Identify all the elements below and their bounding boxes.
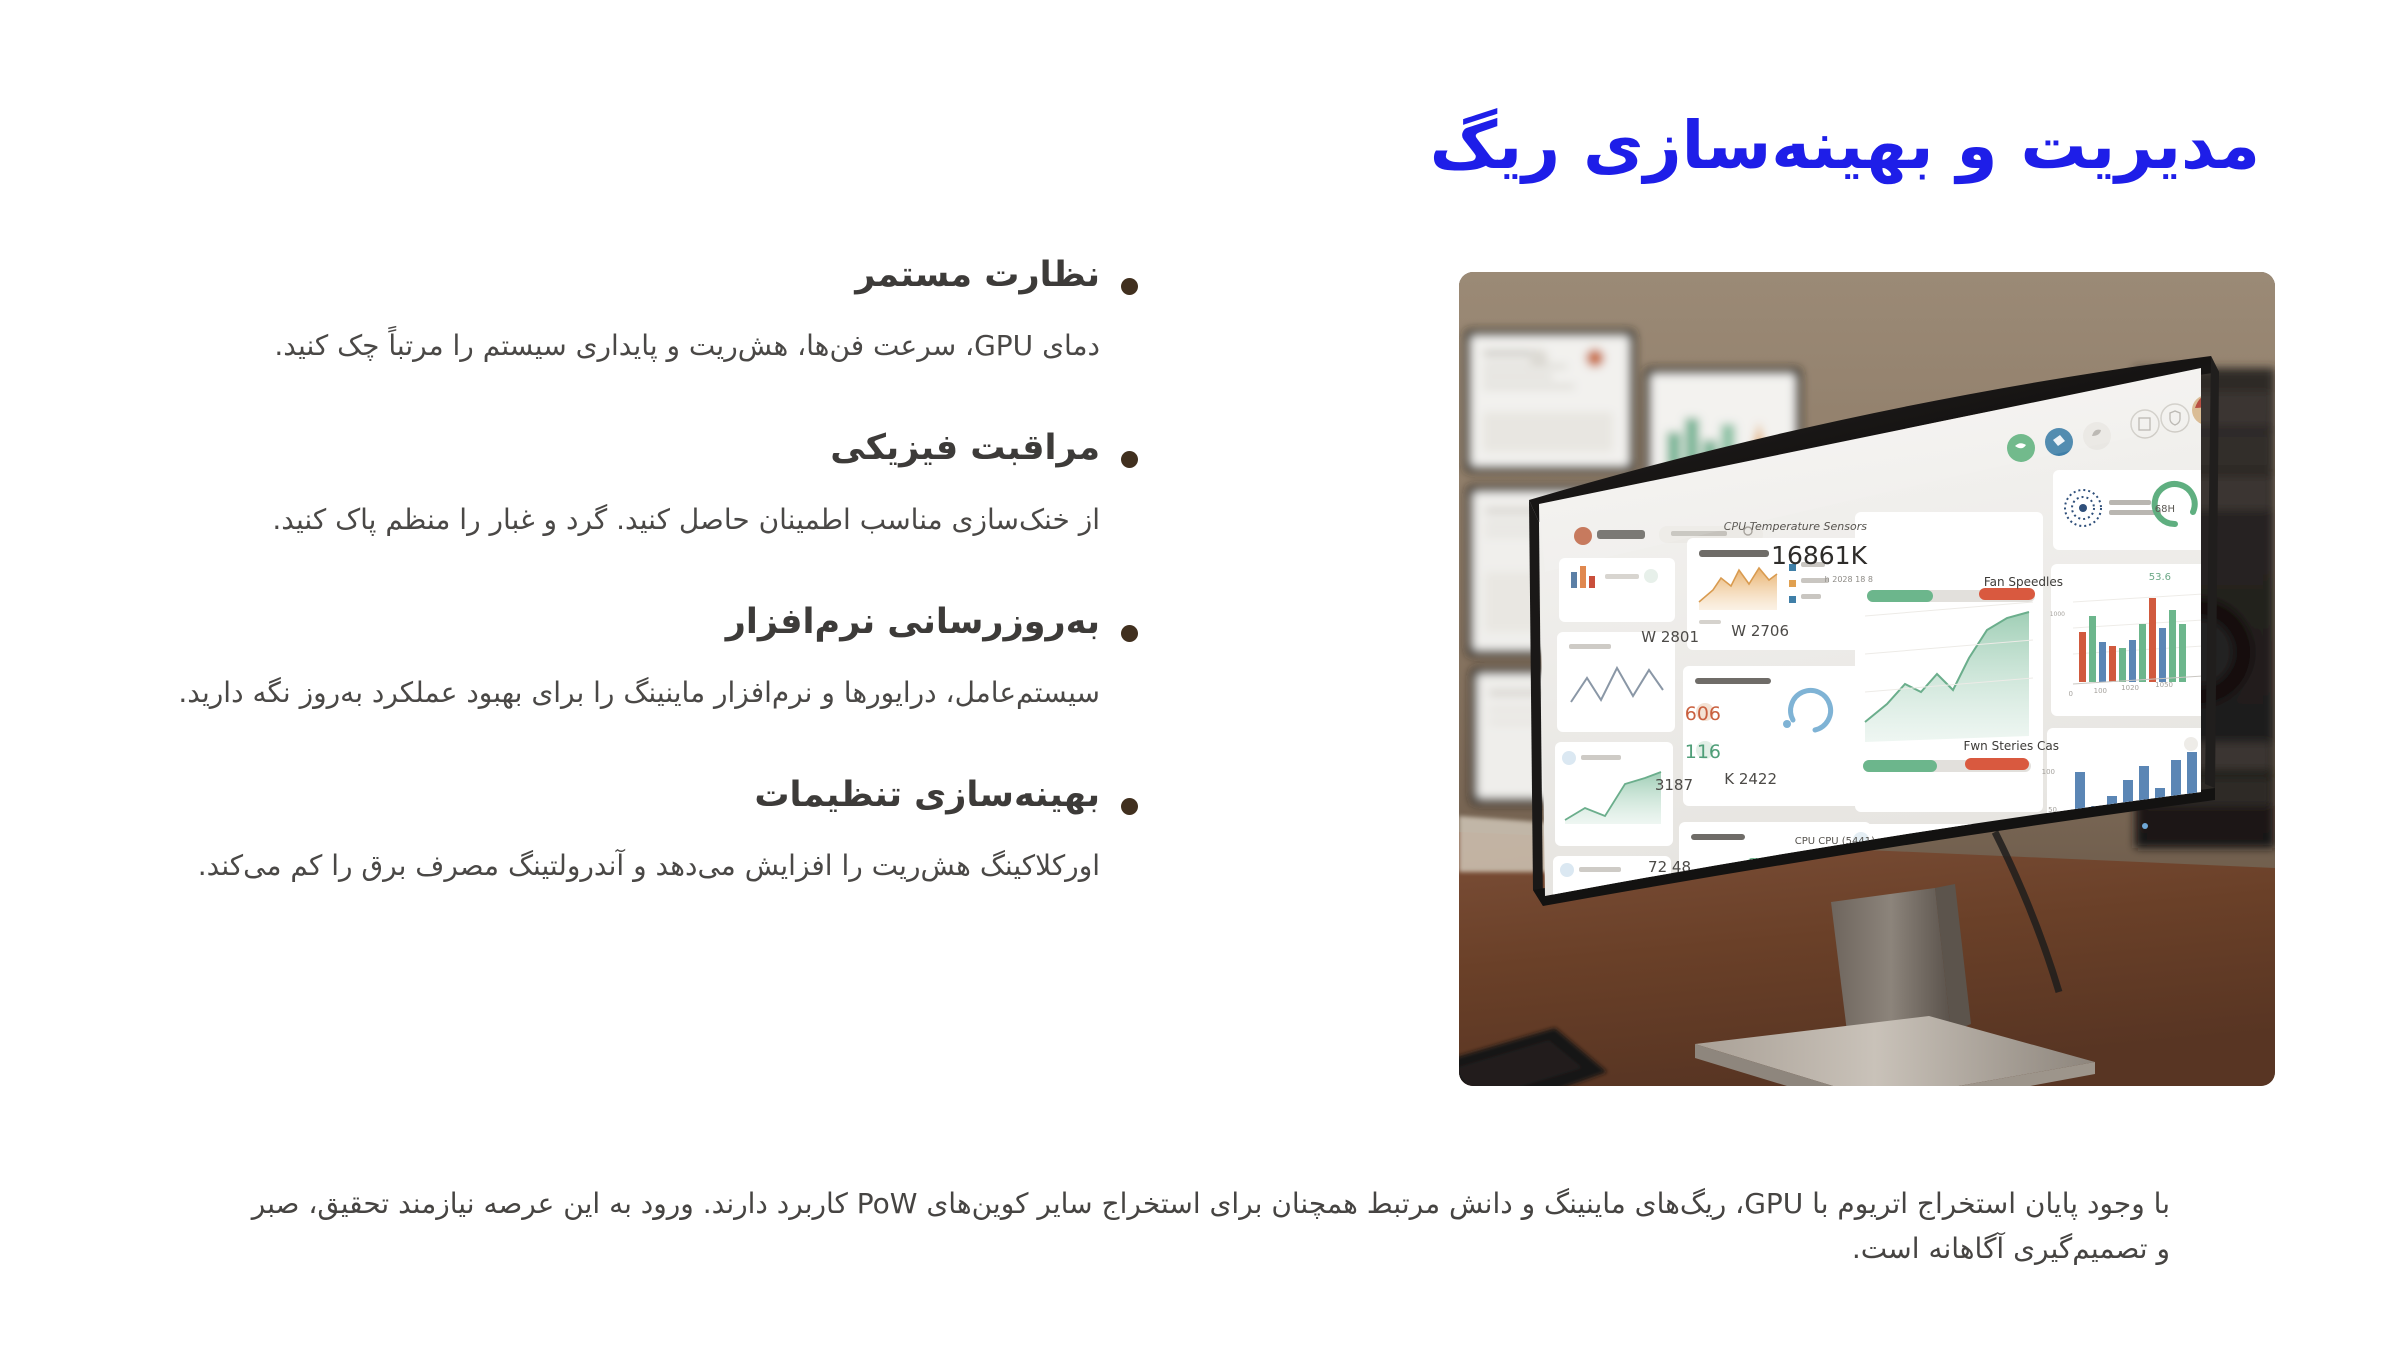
- card-brand-gauge: 68H: [2053, 470, 2213, 550]
- bullet-heading: نظارت مستمر: [160, 252, 1100, 299]
- env-value-c: 3187: [1655, 776, 1693, 794]
- fan-speedles-title: Fan Speedles: [1984, 575, 2063, 589]
- bullet-dot-icon: [1121, 451, 1138, 468]
- list-item: نظارت مستمر دمای GPU، سرعت فن‌ها، هش‌ریت…: [160, 252, 1100, 367]
- cpu-temp-subvalue: 8 18 h 2028: [1825, 575, 1873, 584]
- gauge-label: 68H: [2155, 504, 2175, 515]
- power-led-icon: [2142, 823, 2148, 829]
- fan-axis-tick-0: 0: [2069, 690, 2073, 698]
- fan-axis-tick-2: 1020: [2121, 684, 2139, 692]
- env-value-a: 606: [1685, 703, 1721, 725]
- env-value-b: 116: [1685, 741, 1721, 763]
- env-value-d: 2422 K: [1724, 770, 1777, 788]
- list-item: بهینه‌سازی تنظیمات اورکلاکینگ هش‌ریت را …: [160, 772, 1100, 887]
- fan-axis-tick-3: 1050: [2155, 681, 2173, 689]
- temp-value-a: 2801 W: [1641, 628, 1699, 646]
- list-item: مراقبت فیزیکی از خنک‌سازی مناسب اطمینان …: [160, 425, 1100, 540]
- fan-speedles-meta: 53.6: [2149, 572, 2171, 583]
- bullet-heading: مراقبت فیزیکی: [160, 425, 1100, 472]
- cpu-temp-value: 16861K: [1771, 541, 1868, 570]
- fan-axis-tick-1: 100: [2094, 687, 2107, 695]
- monitor-photo: 2801 W 2706 W 606 116 3187 2422 K: [1459, 272, 2275, 1086]
- fwn-steries-info-icon[interactable]: [2184, 737, 2198, 751]
- feature-bullet-list: نظارت مستمر دمای GPU، سرعت فن‌ها، هش‌ریت…: [160, 252, 1100, 945]
- page-title: مدیریت و بهینه‌سازی ریگ: [140, 106, 2260, 185]
- card-resources: [1555, 742, 1673, 846]
- card-pipe-chart: [1557, 632, 1675, 732]
- card-environment-sensors: 606 116 3187 2422 K: [1655, 666, 1875, 806]
- fwn-steries-title: Fwn Steries Cas: [1963, 739, 2059, 753]
- bullet-description: دمای GPU، سرعت فن‌ها، هش‌ریت و پایداری س…: [160, 325, 1100, 367]
- monitor-photo-illustration: 2801 W 2706 W 606 116 3187 2422 K: [1459, 272, 2275, 1086]
- bullet-dot-icon: [1121, 278, 1138, 295]
- slide-root: مدیریت و بهینه‌سازی ریگ نظارت مستمر دمای…: [0, 0, 2400, 1350]
- card-pipe-acton: [1559, 558, 1675, 622]
- bullet-heading: به‌روزرسانی نرم‌افزار: [160, 599, 1100, 646]
- list-item: به‌روزرسانی نرم‌افزار سیستم‌عامل، درایور…: [160, 599, 1100, 714]
- bullet-dot-icon: [1121, 798, 1138, 815]
- bullet-heading: بهینه‌سازی تنظیمات: [160, 772, 1100, 819]
- bullet-description: از خنک‌سازی مناسب اطمینان حاصل کنید. گرد…: [160, 499, 1100, 541]
- temp-value-b: 2706 W: [1731, 622, 1789, 640]
- closing-paragraph: با وجود پایان استخراج اتریوم با GPU، ریگ…: [230, 1181, 2170, 1272]
- bullet-dot-icon: [1121, 625, 1138, 642]
- fwn-axis-max: 100: [2042, 768, 2055, 776]
- bullet-description: سیستم‌عامل، درایورها و نرم‌افزار ماینینگ…: [160, 672, 1100, 714]
- bullet-description: اورکلاکینگ هش‌ریت را افزایش می‌دهد و آند…: [160, 845, 1100, 887]
- fan-axis-max: 1000: [2050, 611, 2065, 618]
